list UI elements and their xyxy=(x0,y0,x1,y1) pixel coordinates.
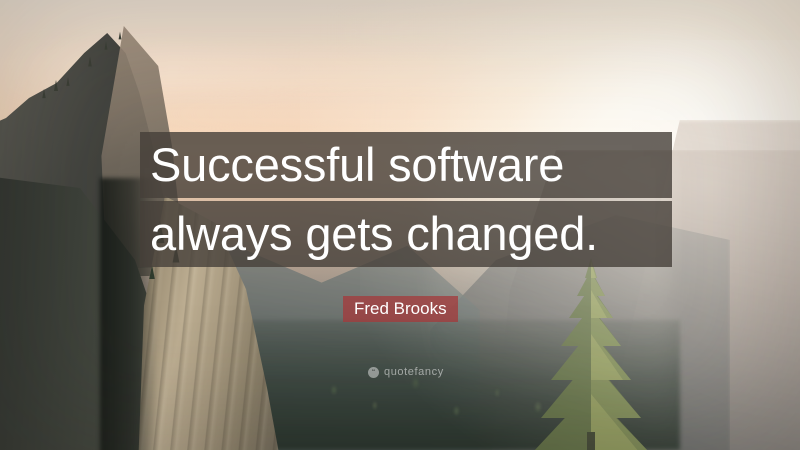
ridge-tree xyxy=(66,77,69,86)
pine-tree-icon xyxy=(527,256,655,450)
quote-poster: Successful software always gets changed.… xyxy=(0,0,800,450)
ridge-tree xyxy=(105,41,108,49)
quotefancy-watermark: “ quotefancy xyxy=(368,366,444,378)
quote-text-block: Successful software always gets changed. xyxy=(140,132,672,267)
quote-line-2: always gets changed. xyxy=(140,201,672,267)
quote-line-1: Successful software xyxy=(140,132,672,198)
ridge-tree xyxy=(119,32,122,40)
quote-mark-icon: “ xyxy=(368,367,379,378)
cliff-base-tree xyxy=(149,265,155,279)
ridge-tree xyxy=(54,80,58,91)
author-attribution: Fred Brooks xyxy=(343,296,458,322)
watermark-label: quotefancy xyxy=(384,366,444,378)
ridge-tree xyxy=(88,57,92,67)
ridge-tree xyxy=(42,89,45,98)
